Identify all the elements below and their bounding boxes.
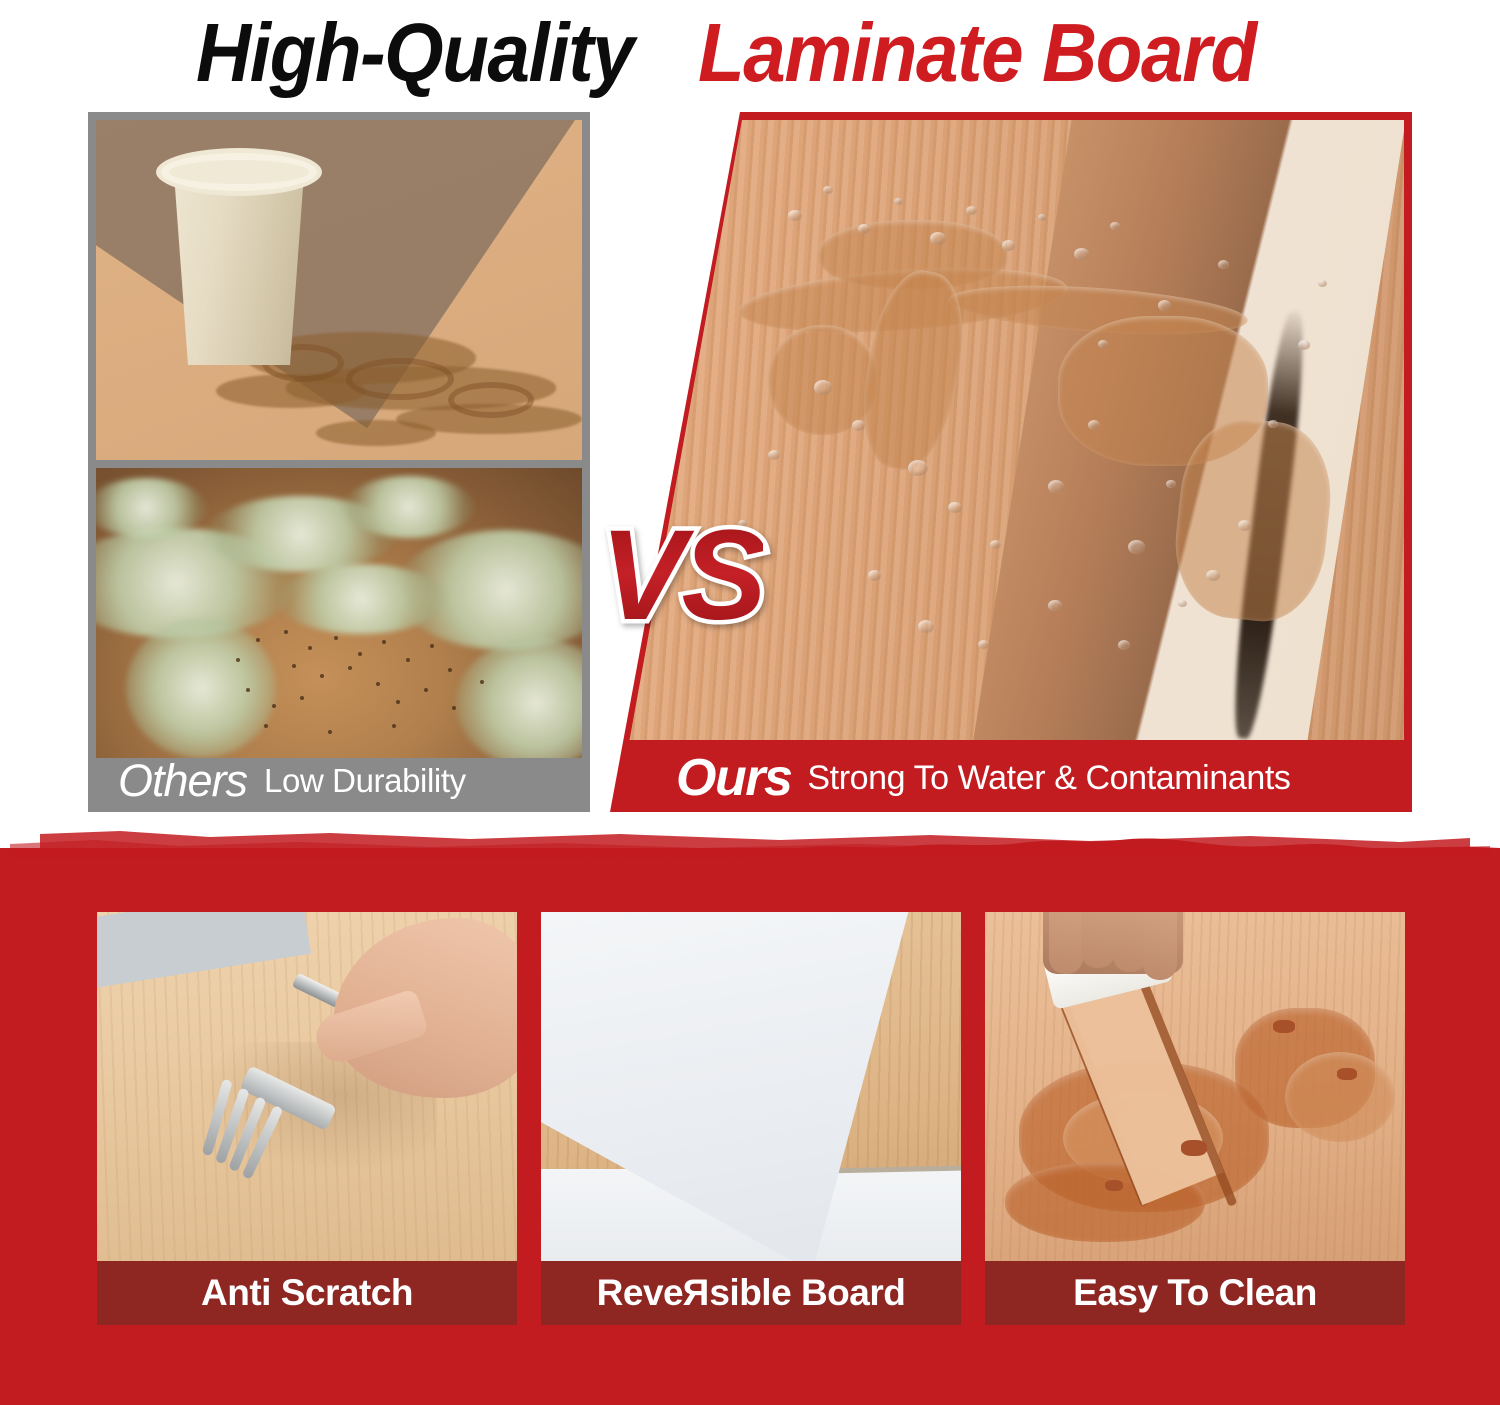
others-tagline: Low Durability (264, 762, 466, 800)
coffee-ring (448, 382, 534, 418)
water-droplet (1238, 520, 1251, 531)
mold-speck (284, 630, 288, 634)
coffee-ring (346, 358, 454, 400)
water-droplet (1038, 214, 1046, 221)
page-title-accent: Laminate Board (698, 11, 1256, 94)
water-droplet (930, 232, 946, 245)
mold-speck (452, 706, 456, 710)
water-droplet (868, 570, 881, 581)
mold-patch (344, 476, 474, 538)
water-droplet (908, 460, 928, 476)
ours-photo-clip (618, 120, 1404, 804)
water-droplet (966, 206, 977, 215)
mold-speck (358, 652, 362, 656)
vs-badge: VS (600, 512, 763, 640)
feature-tile-easy-to-clean[interactable]: Easy To Clean (985, 912, 1405, 1325)
water-droplet (894, 198, 903, 205)
water-droplet (788, 210, 802, 221)
finger (1081, 912, 1115, 968)
sauce-chunk (1181, 1140, 1207, 1156)
mold-speck (246, 688, 250, 692)
coffee-puddle (316, 420, 436, 446)
sauce-chunk (1273, 1020, 1295, 1033)
mold-speck (376, 682, 380, 686)
water-droplet (1128, 540, 1145, 554)
mold-speck (308, 646, 312, 650)
feature-tile-reversible-board[interactable]: ReveRsible Board (541, 912, 961, 1325)
paper-cup-rim (156, 148, 322, 196)
finger (1143, 912, 1177, 980)
mold-speck (396, 700, 400, 704)
water-droplet (1088, 420, 1100, 430)
ours-caption-bar: Ours Strong To Water & Contaminants (610, 744, 1412, 812)
ours-tagline: Strong To Water & Contaminants (807, 759, 1290, 798)
mold-speck (448, 668, 452, 672)
water-droplet (858, 224, 870, 234)
mold-speck (406, 658, 410, 662)
others-panel: Others Low Durability (88, 112, 590, 812)
water-droplet (823, 186, 833, 194)
finger (1049, 912, 1083, 974)
others-mold-photo (96, 468, 582, 758)
mold-speck (292, 664, 296, 668)
others-spill-photo (96, 120, 582, 460)
water-droplet (1158, 300, 1171, 311)
mold-speck (272, 704, 276, 708)
feature-tiles: Anti Scratch ReveRsible Board (97, 912, 1407, 1325)
sauce-chunk (1337, 1068, 1357, 1080)
mold-speck (334, 636, 338, 640)
reversible-board-photo (541, 912, 961, 1261)
feature-label-reversible-board: ReveRsible Board (541, 1261, 961, 1325)
water-droplet (852, 420, 865, 431)
mold-speck (264, 724, 268, 728)
feature-label-text-post: sible Board (709, 1272, 905, 1314)
brush-stroke-edge (0, 826, 1500, 884)
mold-patch (126, 618, 276, 758)
page-title-primary: High-Quality (196, 11, 633, 94)
others-photo-stack (96, 120, 582, 758)
feature-label-text: Easy To Clean (1073, 1272, 1317, 1314)
ours-water-photo (618, 120, 1404, 740)
water-droplet (990, 540, 1001, 549)
mold-speck (392, 724, 396, 728)
mold-speck (480, 680, 484, 684)
mold-speck (236, 658, 240, 662)
others-caption-bar: Others Low Durability (88, 750, 590, 812)
mold-speck (256, 638, 260, 642)
mold-speck (424, 688, 428, 692)
ours-panel: Ours Strong To Water & Contaminants (610, 112, 1412, 812)
mold-speck (430, 644, 434, 648)
feature-label-easy-to-clean: Easy To Clean (985, 1261, 1405, 1325)
feature-label-anti-scratch: Anti Scratch (97, 1261, 517, 1325)
mold-speck (348, 666, 352, 670)
feature-label-text: Anti Scratch (201, 1272, 413, 1314)
easy-to-clean-photo (985, 912, 1405, 1261)
others-label: Others (118, 755, 247, 807)
mirrored-r-glyph: R (683, 1272, 709, 1314)
water-droplet (1048, 480, 1064, 493)
sauce-stain (1285, 1052, 1395, 1142)
mold-speck (382, 640, 386, 644)
feature-label-text-pre: Reve (597, 1272, 683, 1314)
water-droplet (1002, 240, 1015, 251)
ours-label: Ours (676, 748, 791, 808)
mold-speck (328, 730, 332, 734)
anti-scratch-photo (97, 912, 517, 1261)
mold-patch (456, 638, 582, 758)
page-title: High-Quality Laminate Board (0, 0, 1500, 104)
water-droplet (1118, 640, 1130, 650)
water-droplet (768, 450, 780, 460)
sauce-chunk (1105, 1180, 1123, 1191)
water-droplet (978, 640, 989, 649)
water-droplet (1218, 260, 1229, 269)
mold-speck (320, 674, 324, 678)
comparison-section: Others Low Durability Ours Strong To Wat… (0, 104, 1500, 820)
mold-patch (276, 564, 446, 634)
water-droplet (1298, 340, 1310, 350)
finger (1113, 912, 1147, 972)
water-droplet (948, 502, 962, 513)
mold-speck (300, 696, 304, 700)
feature-tile-anti-scratch[interactable]: Anti Scratch (97, 912, 517, 1325)
water-droplet (814, 380, 832, 395)
water-droplet (918, 620, 934, 633)
